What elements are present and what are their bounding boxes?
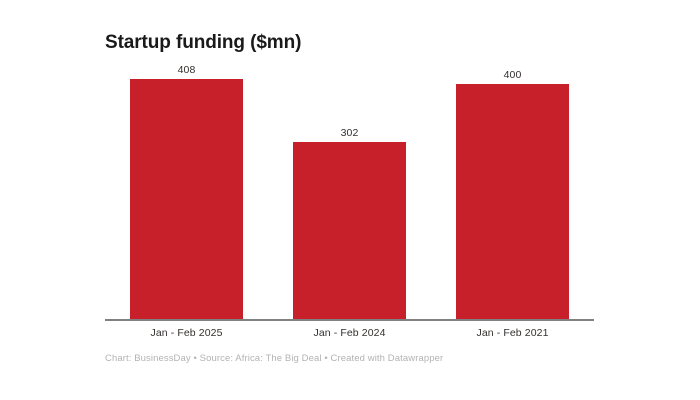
chart-credit-footer: Chart: BusinessDay • Source: Africa: The…	[105, 353, 443, 364]
bar-group[interactable]: 400	[431, 62, 594, 320]
x-axis-tick-label: Jan - Feb 2025	[105, 323, 268, 339]
bar[interactable]	[456, 84, 569, 320]
plot-area: 408 302 400	[105, 62, 594, 320]
x-axis-tick-label: Jan - Feb 2021	[431, 323, 594, 339]
x-axis-line	[105, 319, 594, 321]
chart-title: Startup funding ($mn)	[105, 32, 301, 54]
bar-group[interactable]: 302	[268, 62, 431, 320]
bar[interactable]	[130, 79, 243, 320]
bar-value-label: 302	[268, 127, 431, 139]
bar-group[interactable]: 408	[105, 62, 268, 320]
bar[interactable]	[293, 142, 406, 320]
x-axis-category-labels: Jan - Feb 2025 Jan - Feb 2024 Jan - Feb …	[105, 323, 594, 339]
bar-value-label: 408	[105, 64, 268, 76]
chart-container: Startup funding ($mn) 408 302 400 Jan - …	[0, 0, 700, 400]
bars-row: 408 302 400	[105, 62, 594, 320]
x-axis-tick-label: Jan - Feb 2024	[268, 323, 431, 339]
bar-value-label: 400	[431, 69, 594, 81]
